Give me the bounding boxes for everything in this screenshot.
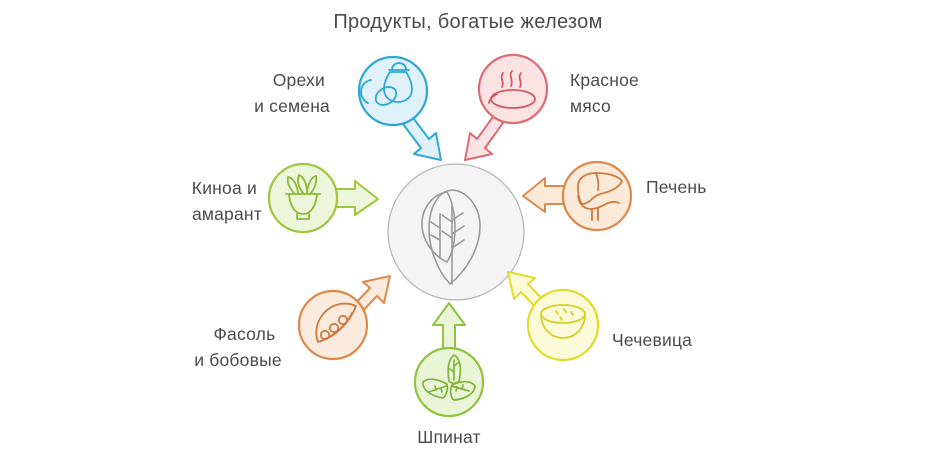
node-spinach[interactable]: Шпинат xyxy=(415,303,483,447)
arrow-red-meat xyxy=(465,114,503,160)
label-spinach: Шпинат xyxy=(417,427,481,447)
label-beans-and-legumes: Фасоль и бобовые xyxy=(194,324,282,370)
iron-rich-foods-diagram: Продукты, богатые железом xyxy=(0,0,936,455)
label-nuts-and-seeds: Орехи и семена xyxy=(254,70,330,116)
node-quinoa-and-amaranth[interactable]: Киноа и амарант xyxy=(192,164,378,232)
node-beans-and-legumes[interactable]: Фасоль и бобовые xyxy=(194,276,390,370)
node-circle-beans-and-legumes xyxy=(299,291,367,359)
label-liver: Печень xyxy=(646,177,707,197)
node-red-meat[interactable]: Красное мясо xyxy=(465,55,644,160)
arrow-liver xyxy=(523,178,568,212)
center-hub xyxy=(388,164,524,300)
node-liver[interactable]: Печень xyxy=(523,162,707,230)
node-nuts-and-seeds[interactable]: Орехи и семена xyxy=(254,57,441,160)
node-circle-red-meat xyxy=(479,55,547,123)
arrow-spinach xyxy=(433,303,465,352)
node-lentils[interactable]: Чечевица xyxy=(508,272,692,360)
label-quinoa-and-amaranth: Киноа и амарант xyxy=(192,178,262,224)
arrow-quinoa-and-amaranth xyxy=(332,181,378,215)
page-title: Продукты, богатые железом xyxy=(333,11,602,33)
label-lentils: Чечевица xyxy=(612,330,692,350)
node-circle-quinoa-and-amaranth xyxy=(269,164,337,232)
node-circle-lentils xyxy=(528,290,598,360)
label-red-meat: Красное мясо xyxy=(570,70,644,116)
